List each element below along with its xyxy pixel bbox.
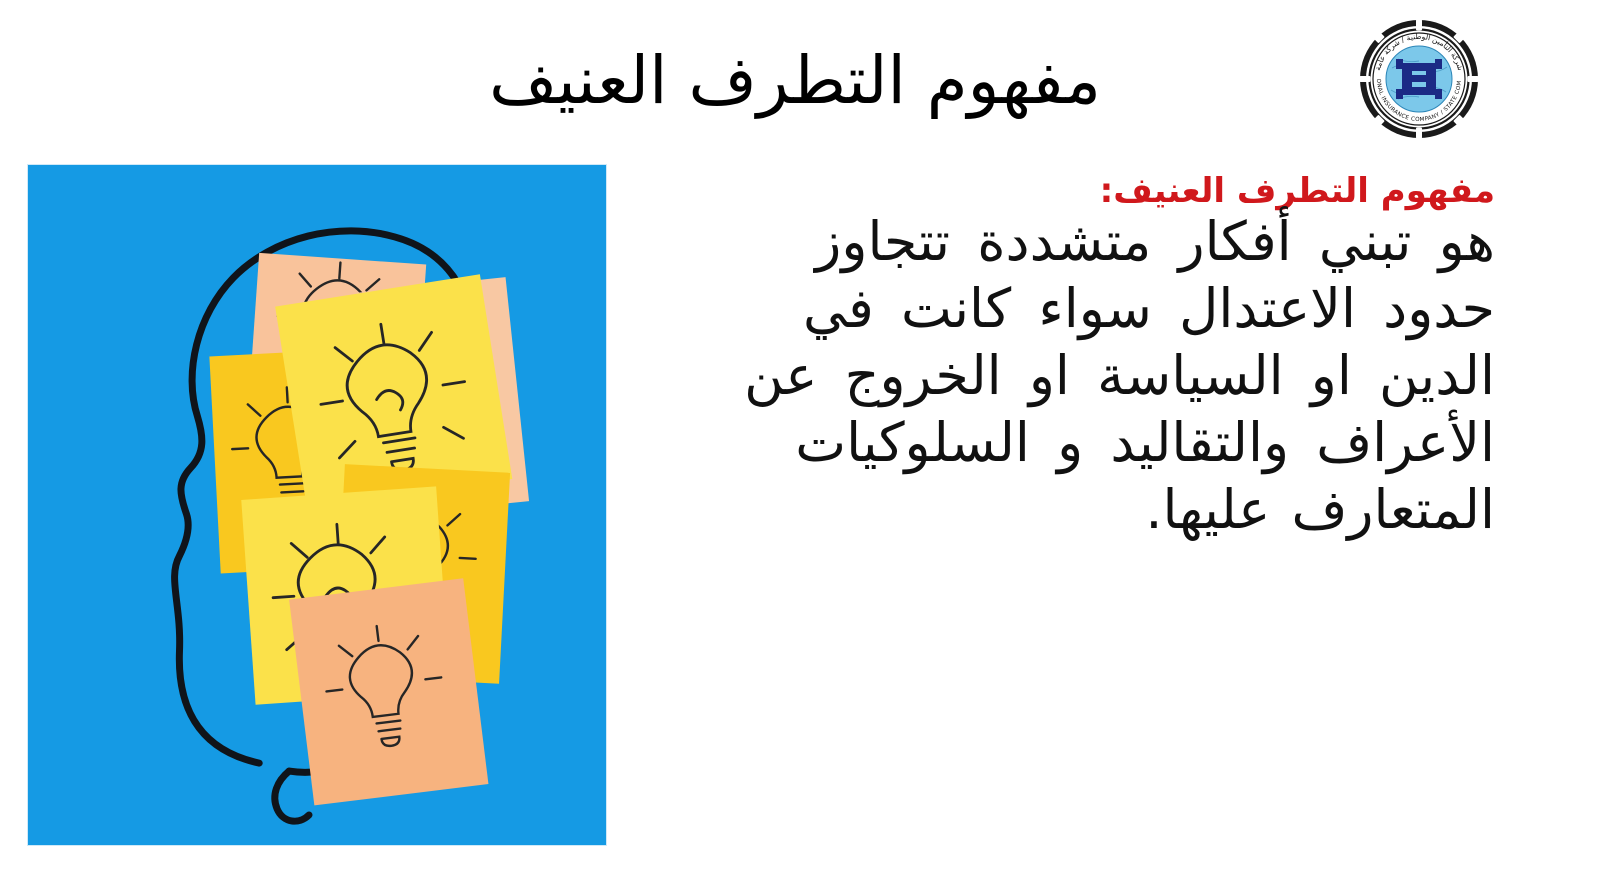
definition-line-4: الأعراف والتقاليد و السلوكيات <box>615 416 1495 483</box>
definition-subtitle: مفهوم التطرف العنيف: <box>615 172 1495 211</box>
company-logo: شركة التأمين الوطنية / شركة عامة NATIONA… <box>1358 18 1480 140</box>
definition-line-5: المتعارف عليها. <box>615 483 1495 550</box>
definition-line-1: هو تبني أفكار متشددة تتجاوز <box>615 215 1495 282</box>
definition-line-3: الدين او السياسة او الخروج عن <box>615 349 1495 416</box>
page-title: مفهوم التطرف العنيف <box>460 46 1130 115</box>
slide-root: شركة التأمين الوطنية / شركة عامة NATIONA… <box>0 0 1600 896</box>
illustration-head-with-ideas <box>27 164 607 846</box>
definition-line-2: حدود الاعتدال سواء كانت في <box>615 282 1495 349</box>
definition-text-block: مفهوم التطرف العنيف: هو تبني أفكار متشدد… <box>615 172 1495 550</box>
